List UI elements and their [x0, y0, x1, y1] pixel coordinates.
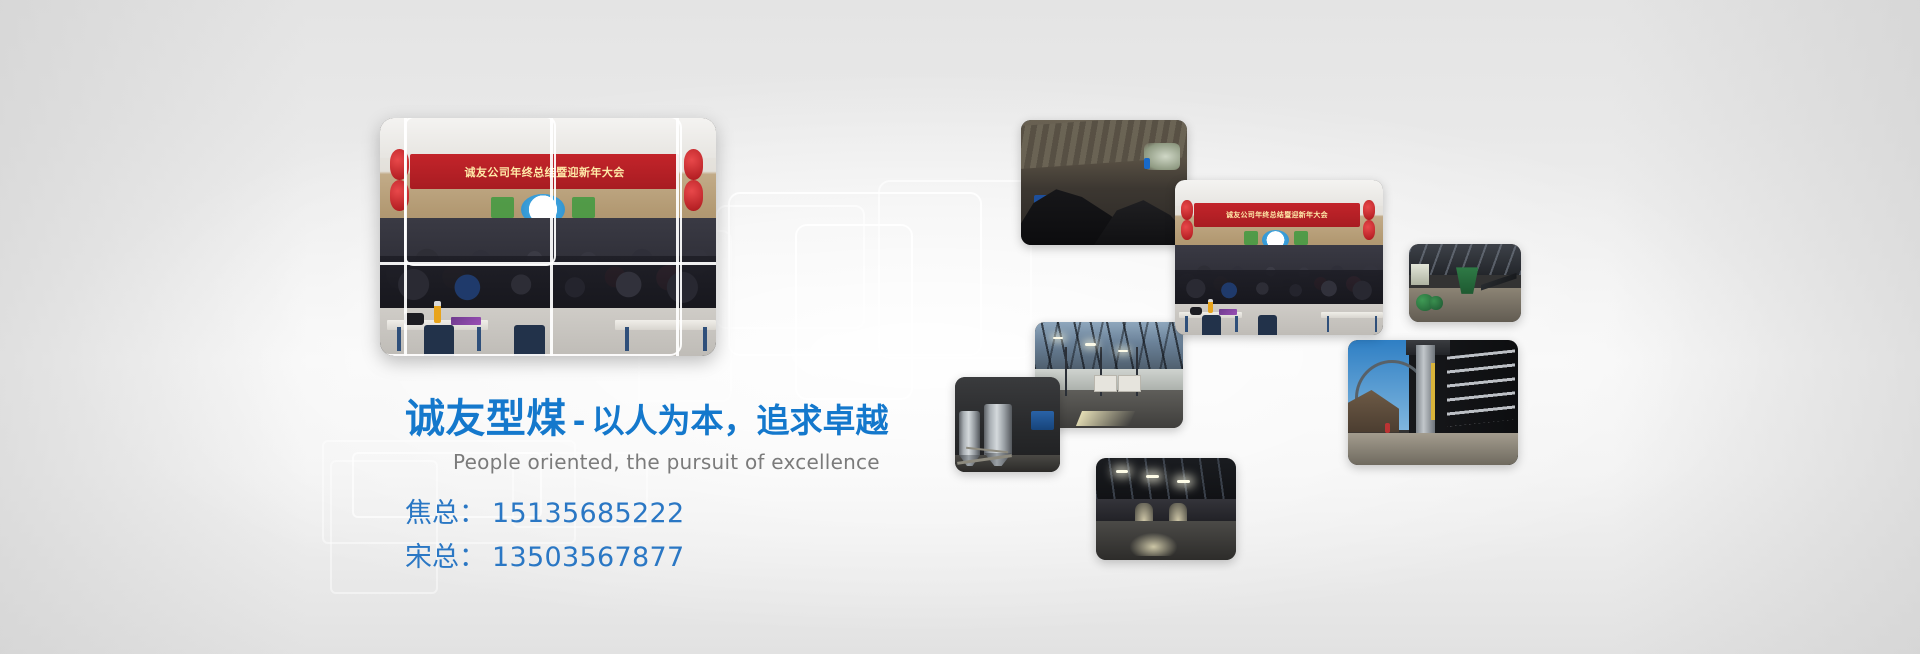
- decor-rect-4: [878, 180, 1032, 359]
- scene-group-meeting-small: 诚友公司年终总结暨迎新年大会: [1175, 180, 1383, 335]
- contact-label-2: 宋总：: [405, 542, 486, 573]
- slogan-cn: 以人为本，追求卓越: [591, 401, 888, 440]
- photo-group-collage[interactable]: 诚友公司年终总结暨迎新年大会: [1175, 180, 1383, 335]
- brand-name: 诚友型煤: [405, 396, 567, 442]
- page-title: 诚友型煤-以人为本，追求卓越: [405, 396, 1125, 443]
- photo-banner-text-collage: 诚友公司年终总结暨迎新年大会: [1194, 203, 1360, 226]
- scene-conveyor-tower: [1348, 340, 1518, 465]
- decor-rect-3: [728, 192, 982, 356]
- photo-banner-text: 诚友公司年终总结暨迎新年大会: [410, 154, 679, 190]
- contact-row[interactable]: 宋总：13503567877: [405, 536, 1125, 580]
- scene-green-crusher: [1409, 244, 1521, 322]
- title-separator: -: [567, 404, 592, 440]
- contact-label-1: 焦总：: [405, 498, 486, 529]
- hero-text-block: 诚友型煤-以人为本，追求卓越 People oriented, the purs…: [405, 396, 1125, 580]
- decor-rect-2: [716, 205, 865, 329]
- hero-banner: 诚友公司年终总结暨迎新年大会: [0, 0, 1920, 654]
- photo-conveyor-tower[interactable]: [1348, 340, 1518, 465]
- scene-group-meeting: 诚友公司年终总结暨迎新年大会: [380, 118, 716, 356]
- contact-list: 焦总：15135685222 宋总：13503567877: [405, 492, 1125, 579]
- scene-coal-storage: [1021, 120, 1187, 245]
- photo-coal-storage[interactable]: [1021, 120, 1187, 245]
- photo-main-group[interactable]: 诚友公司年终总结暨迎新年大会: [380, 118, 716, 356]
- decor-rect-1: [795, 224, 913, 400]
- photo-green-crusher[interactable]: [1409, 244, 1521, 322]
- contact-number-1[interactable]: 15135685222: [486, 498, 685, 529]
- slogan-en: People oriented, the pursuit of excellen…: [453, 450, 1125, 474]
- contact-row[interactable]: 焦总：15135685222: [405, 492, 1125, 536]
- contact-number-2[interactable]: 13503567877: [486, 542, 685, 573]
